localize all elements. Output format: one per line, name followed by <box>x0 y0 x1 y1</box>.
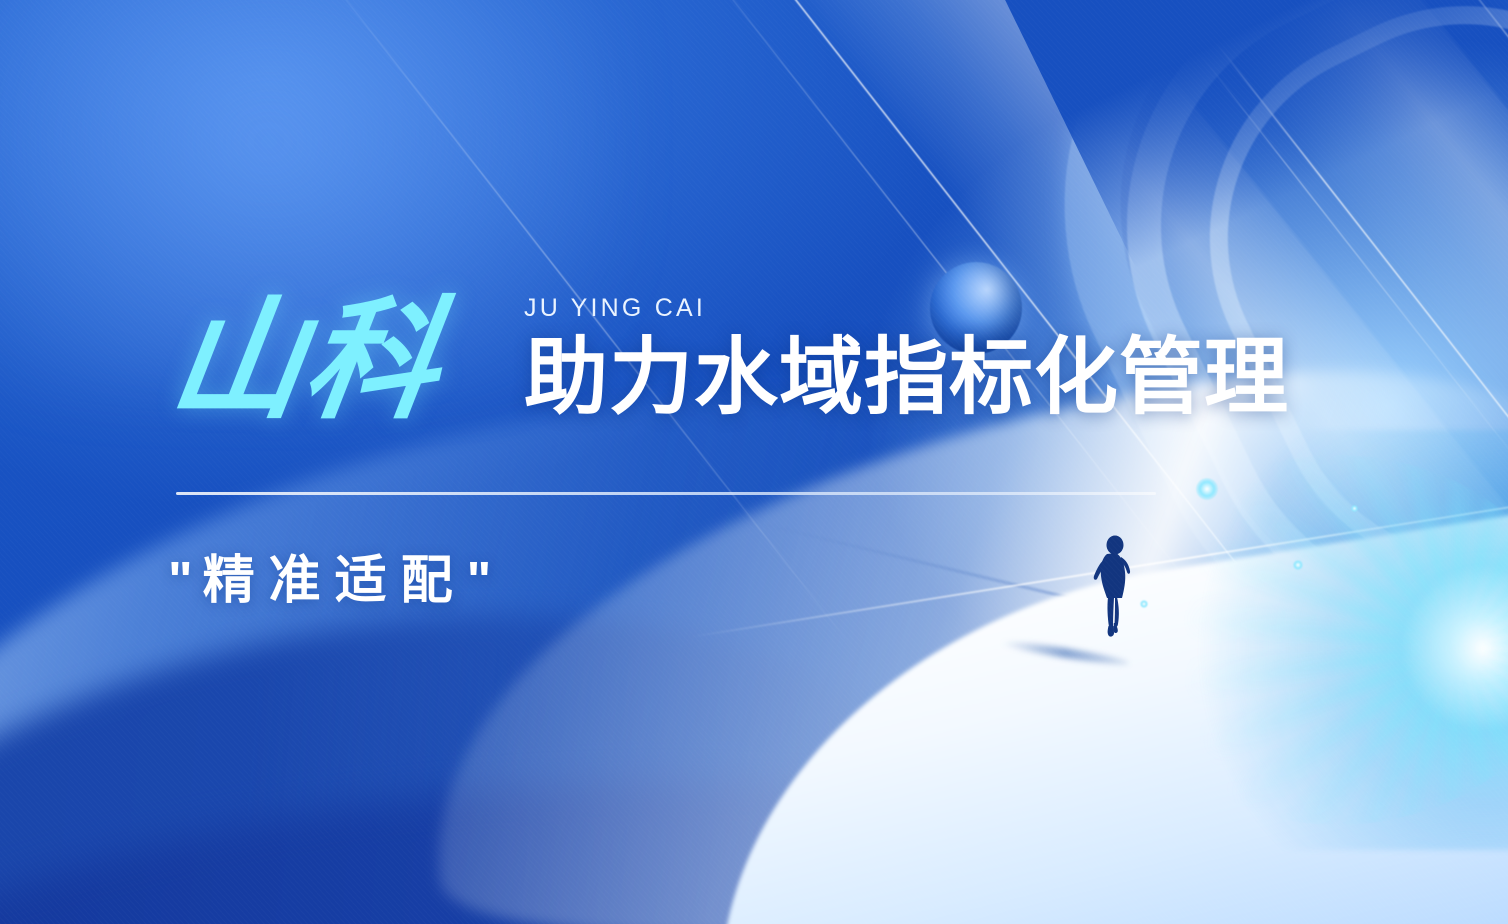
brand-logo-cn: 山科 <box>163 296 449 425</box>
promo-banner: 山科 JU YING CAI 助力水域指标化管理 "精准适配" <box>0 0 1508 924</box>
brand-pinyin: JU YING CAI <box>524 296 1289 321</box>
tagline-text: 精准适配 <box>203 552 467 610</box>
quote-close: " <box>467 552 502 610</box>
headline-text: 助力水域指标化管理 <box>524 335 1289 419</box>
tagline: "精准适配" <box>168 538 501 613</box>
divider-line <box>176 492 1156 495</box>
brand-logo: 山科 <box>172 296 440 425</box>
banner-content: 山科 JU YING CAI 助力水域指标化管理 "精准适配" <box>0 0 1508 924</box>
quote-open: " <box>168 552 203 610</box>
headline-block: JU YING CAI 助力水域指标化管理 <box>524 296 1289 419</box>
